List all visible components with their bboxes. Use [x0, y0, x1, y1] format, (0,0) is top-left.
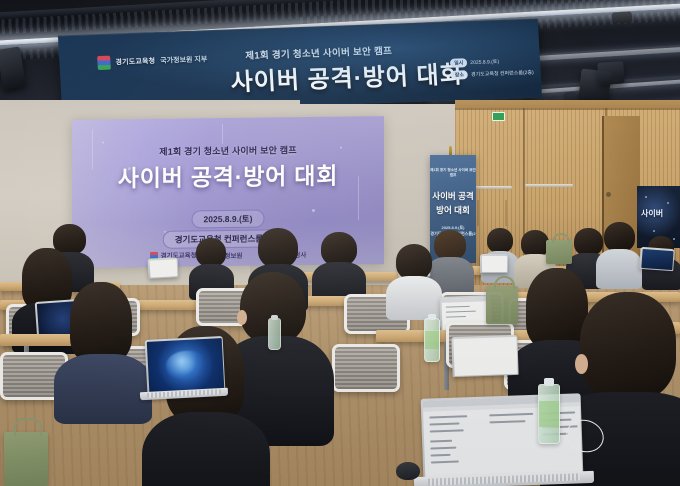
banner-chip-date-value: 2025.8.9.(토)	[470, 58, 499, 66]
banner-chip-venue-value: 경기도교육청 컨퍼런스룸(2층)	[471, 69, 534, 78]
green-tote-bag-left[interactable]	[4, 432, 48, 486]
banner-chip-date-key: 일시	[450, 58, 468, 68]
laptop-back-4[interactable]	[639, 247, 674, 271]
x-banner-subtitle: 제1회 경기 청소년 사이버 보안 캠프	[430, 168, 476, 179]
green-tote-handle-right	[494, 276, 515, 289]
green-tote-handle-left	[14, 418, 42, 436]
laptop-back-3[interactable]	[480, 254, 508, 273]
banner-title: 사이버 공격·방어 대회	[230, 54, 464, 97]
water-bottle-3[interactable]	[268, 318, 281, 350]
banner-chip-venue-key: 장소	[451, 70, 469, 80]
laptop-front-3[interactable]	[451, 335, 518, 377]
banner-logo-secondary: 국가정보원 지부	[160, 54, 208, 66]
green-tote-bag-right[interactable]	[486, 286, 518, 324]
banner-logo-group: 경기도교육청 국가정보원 지부	[97, 52, 208, 70]
x-banner-title-line1: 사이버 공격	[430, 189, 476, 203]
laptop-back-1[interactable]	[147, 257, 178, 279]
screen-title: 사이버 공격·방어 대회	[72, 156, 384, 194]
right-display-text: 사이버	[641, 208, 663, 219]
ceiling-camera	[612, 11, 633, 23]
x-banner-title-line2: 방어 대회	[430, 203, 476, 217]
banner-chip-venue: 장소 경기도교육청 컨퍼런스룸(2층)	[451, 68, 534, 80]
chair-front-3[interactable]	[332, 344, 400, 392]
x-banner-title: 사이버 공격 방어 대회	[430, 189, 476, 218]
banner-info-chips: 일시 2025.8.9.(토) 장소 경기도교육청 컨퍼런스룸(2층)	[450, 56, 534, 83]
conference-room-photo: 경기도교육청 국가정보원 지부 제1회 경기 청소년 사이버 보안 캠프 사이버…	[0, 0, 680, 486]
laptop-win11-wallpaper[interactable]	[145, 336, 226, 394]
screen-date-pill: 2025.8.9.(토)	[192, 210, 265, 229]
ceiling-speaker-right-2	[597, 61, 624, 85]
gyeonggi-education-logo-icon	[97, 56, 111, 70]
tote-bag-back-1	[546, 240, 572, 264]
banner-chip-date: 일시 2025.8.9.(토)	[450, 56, 533, 68]
banner-subtitle: 제1회 경기 청소년 사이버 보안 캠프	[245, 43, 393, 62]
door-knob-icon[interactable]	[606, 192, 611, 197]
banner-logo-primary: 경기도교육청	[115, 56, 155, 67]
water-bottle-2[interactable]	[538, 384, 560, 444]
exit-sign-icon	[492, 112, 505, 121]
water-bottle-1[interactable]	[424, 318, 440, 362]
computer-mouse[interactable]	[396, 462, 420, 480]
